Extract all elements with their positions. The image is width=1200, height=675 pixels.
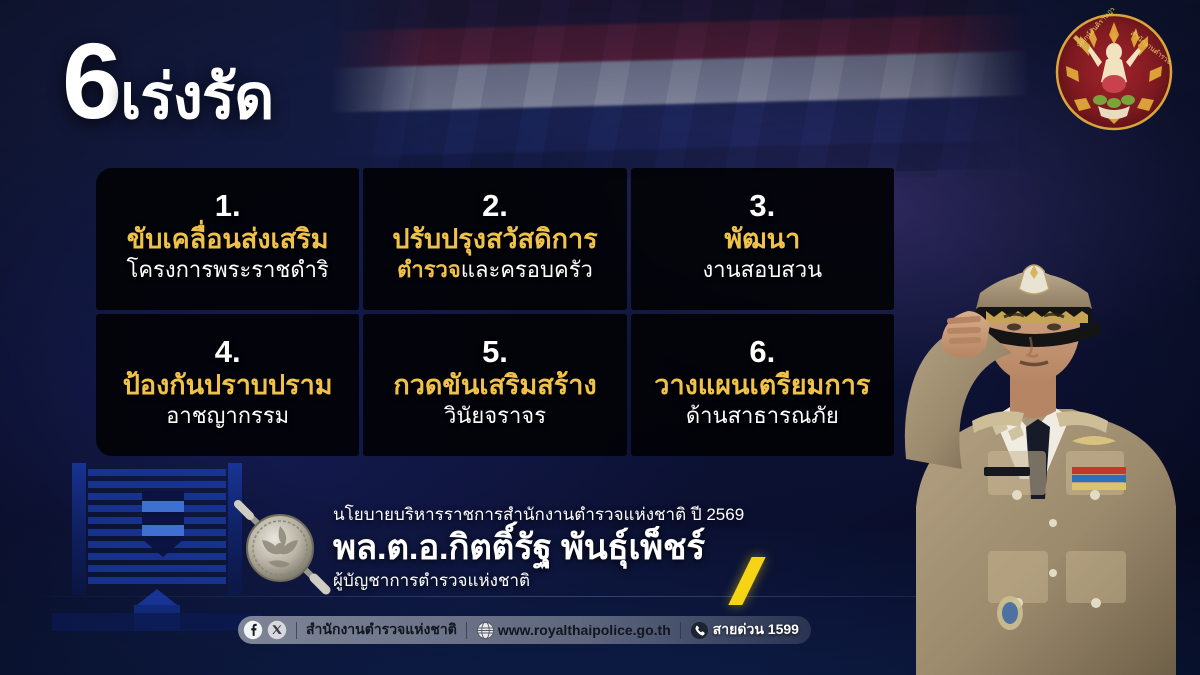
cell-subline: งานสอบสวน <box>703 257 823 283</box>
footer-divider-2 <box>466 622 467 639</box>
cell-headline: วางแผนเตรียมการ <box>654 370 870 400</box>
globe-icon <box>476 621 495 640</box>
cell-subline-plain: และครอบครัว <box>461 257 593 282</box>
cell-subline: ด้านสาธารณภัย <box>686 403 839 429</box>
cell-number: 3. <box>749 190 775 221</box>
priority-cell-1[interactable]: 1. ขับเคลื่อนส่งเสริม โครงการพระราชดำริ <box>96 168 359 310</box>
priority-cell-3[interactable]: 3. พัฒนา งานสอบสวน <box>631 168 894 310</box>
facebook-icon[interactable] <box>243 620 263 640</box>
priority-cell-6[interactable]: 6. วางแผนเตรียมการ ด้านสาธารณภัย <box>631 314 894 456</box>
footer-divider-1 <box>296 622 297 639</box>
cell-subline: โครงการพระราชดำริ <box>127 257 329 283</box>
police-seal-medallion <box>228 500 336 604</box>
cell-headline: ขับเคลื่อนส่งเสริม <box>127 224 329 254</box>
cell-subline-gold: ตำรวจ <box>397 257 461 282</box>
cell-number: 1. <box>215 190 241 221</box>
cell-number: 6. <box>749 336 775 367</box>
cell-subline: วินัยจราจร <box>444 403 546 429</box>
cell-headline: ป้องกันปราบปราม <box>123 370 333 400</box>
cell-headline: ปรับปรุงสวัสดิการ <box>392 224 597 254</box>
title-number: 6 <box>62 30 118 133</box>
footer-social-label: สำนักงานตำรวจแห่งชาติ <box>306 619 457 641</box>
cell-headline: กวดขันเสริมสร้าง <box>393 370 596 400</box>
cell-subline: ตำรวจและครอบครัว <box>397 257 593 283</box>
priority-grid: 1. ขับเคลื่อนส่งเสริม โครงการพระราชดำริ … <box>96 168 894 456</box>
police-commissioner-photo <box>876 115 1200 675</box>
cell-headline: พัฒนา <box>724 224 800 254</box>
priority-cell-5[interactable]: 5. กวดขันเสริมสร้าง วินัยจราจร <box>363 314 626 456</box>
priority-cell-2[interactable]: 2. ปรับปรุงสวัสดิการ ตำรวจและครอบครัว <box>363 168 626 310</box>
policy-line: นโยบายบริหารราชการสำนักงานตำรวจแห่งชาติ … <box>333 504 763 525</box>
cell-number: 5. <box>482 336 508 367</box>
commissioner-name: พล.ต.อ.กิตติ์รัฐ พันธุ์เพ็ชร์ <box>333 527 763 569</box>
commissioner-role: ผู้บัญชาการตำรวจแห่งชาติ <box>333 570 763 591</box>
cell-subline: อาชญากรรม <box>166 403 289 429</box>
title-word: เร่งรัด <box>120 67 273 129</box>
footer-website[interactable]: www.royalthaipolice.go.th <box>498 622 671 638</box>
footer-hotline: สายด่วน 1599 <box>713 619 799 641</box>
commissioner-info: นโยบายบริหารราชการสำนักงานตำรวจแห่งชาติ … <box>333 504 763 592</box>
x-twitter-icon[interactable] <box>267 620 287 640</box>
cell-number: 4. <box>215 336 241 367</box>
footer-divider-3 <box>680 622 681 639</box>
priority-cell-4[interactable]: 4. ป้องกันปราบปราม อาชญากรรม <box>96 314 359 456</box>
footer-contact-bar: สำนักงานตำรวจแห่งชาติ www.royalthaipolic… <box>238 616 811 644</box>
poster-title: 6 เร่งรัด <box>62 30 273 133</box>
phone-icon <box>690 621 709 640</box>
infographic-poster: พิทักษ์สันติราษฎร์ สำนักงานตำรวจ <box>0 0 1200 675</box>
cell-number: 2. <box>482 190 508 221</box>
